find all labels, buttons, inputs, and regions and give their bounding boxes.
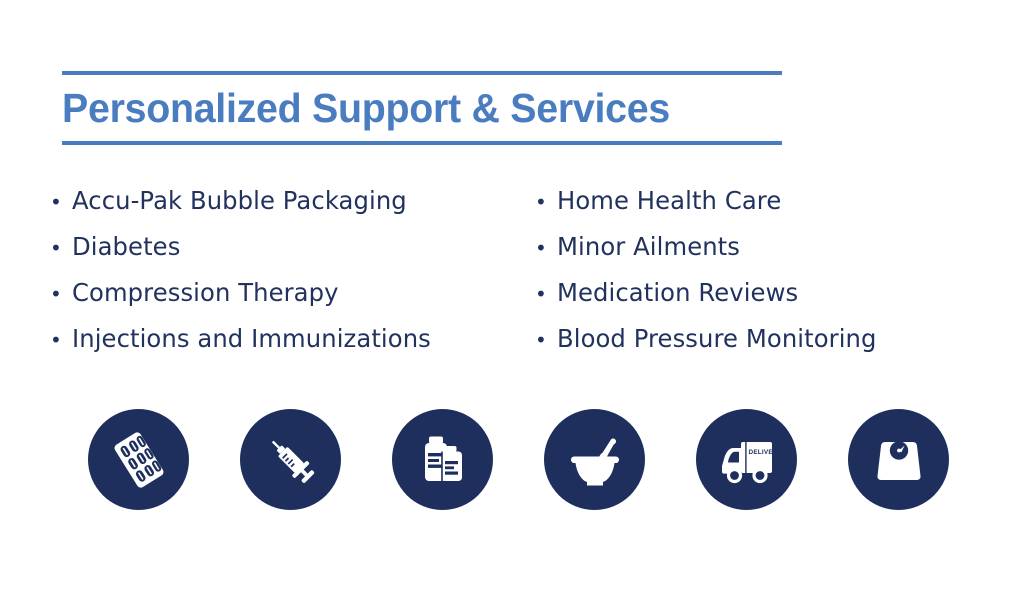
- icon-badge-mortar-pestle: [544, 409, 645, 510]
- bullet-icon: •: [535, 271, 557, 317]
- icon-badge-weight-scale: [848, 409, 949, 510]
- weight-scale-icon: [868, 429, 930, 491]
- icon-badge-pill-bottles: [392, 409, 493, 510]
- slide-canvas: Personalized Support & Services • Accu-P…: [0, 0, 1025, 590]
- services-column-left: • Accu-Pak Bubble Packaging • Diabetes •…: [50, 178, 535, 362]
- blister-pack-icon: [108, 429, 170, 491]
- icon-badge-syringe: [240, 409, 341, 510]
- icon-badge-delivery-truck: DELIVERY: [696, 409, 797, 510]
- mortar-and-pestle-icon: [564, 429, 626, 491]
- list-item-label: Home Health Care: [557, 178, 781, 224]
- syringe-icon: [260, 429, 322, 491]
- title-rule-bottom: [62, 141, 782, 145]
- list-item: • Medication Reviews: [535, 270, 990, 316]
- bullet-icon: •: [535, 225, 557, 271]
- pill-bottles-icon: [412, 429, 474, 491]
- services-column-right: • Home Health Care • Minor Ailments • Me…: [535, 178, 990, 362]
- list-item: • Blood Pressure Monitoring: [535, 316, 990, 362]
- list-item-label: Blood Pressure Monitoring: [557, 316, 877, 362]
- list-item-label: Diabetes: [72, 224, 180, 270]
- services-lists: • Accu-Pak Bubble Packaging • Diabetes •…: [50, 178, 990, 362]
- bullet-icon: •: [50, 225, 72, 271]
- icon-badge-blister-pack: [88, 409, 189, 510]
- bullet-icon: •: [50, 317, 72, 363]
- list-item: • Injections and Immunizations: [50, 316, 535, 362]
- list-item: • Home Health Care: [535, 178, 990, 224]
- bullet-icon: •: [535, 179, 557, 225]
- list-item-label: Minor Ailments: [557, 224, 740, 270]
- list-item-label: Medication Reviews: [557, 270, 798, 316]
- bullet-icon: •: [50, 179, 72, 225]
- list-item-label: Compression Therapy: [72, 270, 339, 316]
- icon-row: DELIVERY: [88, 409, 949, 510]
- page-title: Personalized Support & Services: [62, 75, 753, 141]
- heading-block: Personalized Support & Services: [62, 71, 782, 145]
- list-item: • Diabetes: [50, 224, 535, 270]
- delivery-truck-text: DELIVERY: [748, 448, 779, 455]
- bullet-icon: •: [50, 271, 72, 317]
- bullet-icon: •: [535, 317, 557, 363]
- list-item: • Compression Therapy: [50, 270, 535, 316]
- list-item: • Minor Ailments: [535, 224, 990, 270]
- list-item: • Accu-Pak Bubble Packaging: [50, 178, 535, 224]
- list-item-label: Injections and Immunizations: [72, 316, 431, 362]
- list-item-label: Accu-Pak Bubble Packaging: [72, 178, 407, 224]
- delivery-truck-icon: DELIVERY: [715, 428, 779, 492]
